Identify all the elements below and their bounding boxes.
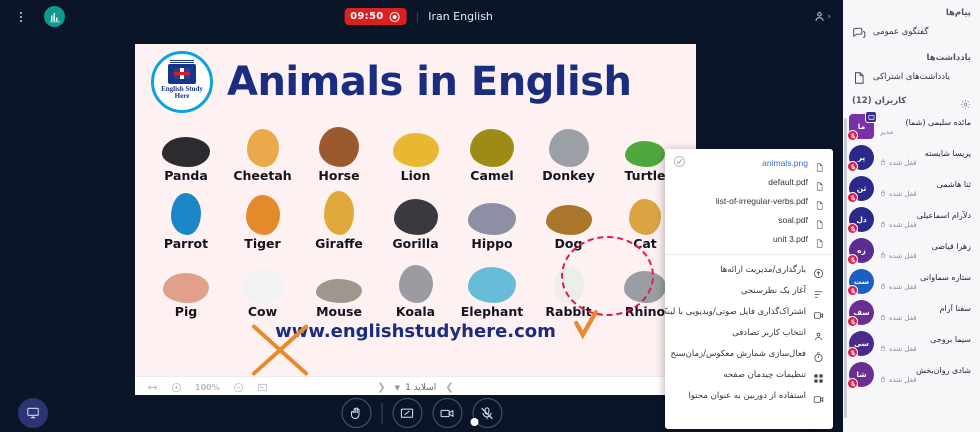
user-name: شادی روان‌بخش [880,366,971,375]
meeting-app-window: 09:50 | Iran English › English Study [0,0,980,432]
user-status-label: قفل شده [889,345,917,353]
animal-cell-giraffe: Giraffe [302,185,376,251]
users-section-header: کاربران (12) [843,90,980,109]
animal-row: PigCowMouseKoalaElephantRabbitRhino [145,253,686,319]
fullscreen-icon[interactable] [257,382,268,393]
animal-row: PandaCheetahHorseLionCamelDonkeyTurtle [145,117,686,183]
animal-image-cow [233,253,293,303]
popup-file-name: unit 3.pdf [674,234,808,244]
mic-off-icon [480,406,495,421]
popup-action-item[interactable]: انتخاب کاربر تصادفی [665,322,833,343]
animal-label: Gorilla [392,236,438,251]
random-user-icon [813,327,824,338]
popup-divider [665,254,833,255]
animal-label: Rabbit [545,304,591,319]
animal-label: Dog [555,236,583,251]
animal-image-mouse [309,253,369,303]
user-list-item[interactable]: ثنا هاشمیقفل شدهثن [843,173,980,204]
user-status-label: قفل شده [889,190,917,198]
user-name: ستاره سماوانی [880,273,971,282]
slide-zoom-controls: 100% [135,382,268,393]
animal-cell-donkey: Donkey [532,117,606,183]
popup-file-item[interactable]: default.pdf [665,172,833,191]
animal-cell-parrot: Parrot [149,185,223,251]
lock-icon [880,190,886,198]
popup-file-list: animals.pngdefault.pdflist-of-irregular-… [665,149,833,251]
animal-image-cheetah [233,117,293,167]
app-logo-icon[interactable] [44,6,65,27]
user-status-label: قفل شده [889,283,917,291]
user-status: مدیر [880,128,971,136]
animal-label: Horse [318,168,359,183]
avatar-wrap: پر [849,145,874,170]
mic-off-badge-icon [847,285,858,296]
animal-image-tiger [233,185,293,235]
file-icon [815,214,824,225]
animal-label: Rhino [625,304,665,319]
popup-file-name: animals.png [674,158,808,168]
record-dot-icon [389,12,399,22]
file-icon [815,233,824,244]
gear-icon[interactable] [960,95,971,106]
lock-icon [880,345,886,353]
animal-image-lion [386,117,446,167]
user-name: پریسا شایسته [880,149,971,158]
animal-image-donkey [539,117,599,167]
animal-label: Donkey [542,168,594,183]
animal-label: Cheetah [233,168,291,183]
presentation-options-popup: animals.pngdefault.pdflist-of-irregular-… [665,149,833,429]
animal-image-parrot [156,185,216,235]
popup-action-item[interactable]: آغاز یک نظرسنجی [665,280,833,301]
lock-icon [880,221,886,229]
video-link-icon [813,306,824,317]
user-list-item[interactable]: شادی روان‌بخشقفل شدهشا [843,359,980,390]
animal-cell-tiger: Tiger [226,185,300,251]
animal-cell-camel: Camel [455,117,529,183]
user-meta: ثنا هاشمیقفل شده [880,180,971,198]
user-name: ثنا هاشمی [880,180,971,189]
camera-button[interactable] [432,398,462,428]
animal-label: Tiger [244,236,280,251]
notes-section-title: یادداشت‌ها [843,45,980,67]
animal-label: Pig [175,304,197,319]
recording-status-group: 09:50 | Iran English [344,8,493,25]
user-status-label: قفل شده [889,376,917,384]
animal-label: Camel [470,168,513,183]
check-circle-icon [674,156,685,167]
popup-action-label: آغاز یک نظرسنجی [741,286,806,296]
user-list-item[interactable]: پریسا شایستهقفل شدهپر [843,142,980,173]
user-list-item[interactable]: سفنا آرامقفل شدهسف [843,297,980,328]
sidebar-item-public-chat[interactable]: گفتگوی عمومی [843,22,980,45]
user-meta: سفنا آرامقفل شده [880,304,971,322]
user-status: قفل شده [880,190,971,198]
fit-to-width-icon[interactable] [147,382,158,393]
next-slide-button[interactable]: ❮ [377,382,385,393]
poll-icon [813,285,824,296]
zoom-level-value: 100% [195,383,220,392]
user-name: سفنا آرام [880,304,971,313]
recording-timer-button[interactable]: 09:50 [344,8,406,25]
camera-content-icon [813,390,824,401]
user-status: قفل شده [880,345,971,353]
animal-cell-elephant: Elephant [455,253,529,319]
timer-icon [813,348,824,359]
top-bar: 09:50 | Iran English › [0,0,843,33]
presenter-badge-icon [865,111,877,123]
badge-line2: Here [175,92,190,100]
animal-image-camel [462,117,522,167]
participants-icon [813,10,826,23]
animal-cell-pig: Pig [149,253,223,319]
animal-label: Mouse [316,304,362,319]
animal-label: Hippo [471,236,512,251]
user-status-label: قفل شده [889,221,917,229]
public-chat-label: گفتگوی عمومی [873,27,928,37]
popup-action-item[interactable]: استفاده از دوربین به عنوان محتوا [665,385,833,406]
user-status: قفل شده [880,252,971,260]
slide-canvas[interactable]: English Study Here Animals in English Pa… [135,44,696,376]
animal-cell-cow: Cow [226,253,300,319]
messages-section-title: پیام‌ها [843,0,980,22]
mic-off-badge-icon [847,316,858,327]
popup-action-label: فعال‌سازی شمارش معکوس/زمان‌سنج [670,349,806,359]
user-list-item[interactable]: ستاره سماوانیقفل شدهست [843,266,980,297]
animal-image-hippo [462,185,522,235]
users-count-title: کاربران (12) [852,96,906,106]
zoom-out-icon[interactable] [233,382,244,393]
animal-cell-hippo: Hippo [455,185,529,251]
animal-image-rabbit [539,253,599,303]
file-icon [815,157,824,168]
animal-grid: PandaCheetahHorseLionCamelDonkeyTurtlePa… [135,113,696,319]
popup-action-item[interactable]: فعال‌سازی شمارش معکوس/زمان‌سنج [665,343,833,364]
popup-action-item[interactable]: بارگذاری/مدیریت ارائه‌ها [665,259,833,280]
user-meta: ستاره سماوانیقفل شده [880,273,971,291]
popup-action-list: بارگذاری/مدیریت ارائه‌هاآغاز یک نظرسنجیا… [665,258,833,410]
sidebar-scrollbar[interactable] [844,118,847,418]
animal-cell-horse: Horse [302,117,376,183]
user-name: دلآرام اسماعیلی [880,211,971,220]
file-icon [815,176,824,187]
avatar-wrap: ست [849,269,874,294]
avatar-wrap: سی [849,331,874,356]
animal-cell-lion: Lion [379,117,453,183]
recording-time: 09:50 [350,11,383,22]
slide-navigation: ❯ اسلاید 1 ▼ ❮ [377,382,453,393]
raise-hand-icon [349,406,364,421]
mic-off-badge-icon [847,347,858,358]
mic-off-badge-icon [847,130,858,141]
animal-cell-rabbit: Rabbit [532,253,606,319]
english-study-here-logo-icon: English Study Here [151,51,213,113]
user-status: قفل شده [880,221,971,229]
animal-cell-mouse: Mouse [302,253,376,319]
layout-icon [813,369,824,380]
animal-label: Lion [401,168,431,183]
popup-action-item[interactable]: تنظیمات چیدمان صفحه [665,364,833,385]
user-status: قفل شده [880,376,971,384]
lock-icon [880,376,886,384]
presentation-icon [26,406,40,420]
user-status-label: مدیر [880,128,893,136]
chevron-right-icon: › [827,12,831,22]
user-meta: شادی روان‌بخشقفل شده [880,366,971,384]
animal-cell-cheetah: Cheetah [226,117,300,183]
room-title: Iran English [428,10,493,23]
popup-action-label: تنظیمات چیدمان صفحه [723,370,806,380]
avatar-wrap: دل [849,207,874,232]
zoom-in-icon[interactable] [171,382,182,393]
slide-selector-dropdown[interactable]: اسلاید 1 ▼ [395,383,437,393]
slide-website-url: www.englishstudyhere.com [135,321,696,342]
popup-file-item[interactable]: soal.pdf [665,210,833,229]
popup-file-item[interactable]: animals.png [665,153,833,172]
animal-label: Koala [396,304,435,319]
animal-image-pig [156,253,216,303]
avatar-wrap: زه [849,238,874,263]
shared-notes-label: یادداشت‌های اشتراکی [873,72,950,82]
popup-action-label: انتخاب کاربر تصادفی [732,328,806,338]
avatar-wrap: شا [849,362,874,387]
mic-status-dot [470,418,478,426]
user-list[interactable]: مائده سلیمی (شما)مدیرماپریسا شایستهقفل ش… [843,109,980,432]
lock-icon [880,283,886,291]
user-list-item[interactable]: زهرا قیاضیقفل شدهزه [843,235,980,266]
user-name: سیما بروجی [880,335,971,344]
chevron-down-icon: ▼ [395,384,400,392]
mic-off-badge-icon [847,192,858,203]
slide-header: English Study Here Animals in English [135,44,696,113]
lock-icon [880,159,886,167]
raise-hand-button[interactable] [341,398,371,428]
avatar-wrap: ثن [849,176,874,201]
animal-image-giraffe [309,185,369,235]
user-list-item[interactable]: سیما بروجیقفل شدهسی [843,328,980,359]
user-meta: دلآرام اسماعیلیقفل شده [880,211,971,229]
animal-cell-gorilla: Gorilla [379,185,453,251]
animal-image-elephant [462,253,522,303]
animal-image-dog [539,185,599,235]
topbar-separator: | [415,10,419,23]
file-icon [815,195,824,206]
animal-image-gorilla [386,185,446,235]
user-meta: پریسا شایستهقفل شده [880,149,971,167]
animal-label: Panda [164,168,208,183]
user-status-label: قفل شده [889,252,917,260]
user-status: قفل شده [880,314,971,322]
camera-off-icon [440,406,455,421]
popup-file-item[interactable]: list-of-irregular-verbs.pdf [665,191,833,210]
mic-off-badge-icon [847,223,858,234]
lock-icon [880,314,886,322]
mic-off-badge-icon [847,161,858,172]
animal-image-horse [309,117,369,167]
user-list-item[interactable]: مائده سلیمی (شما)مدیرما [843,111,980,142]
user-status-label: قفل شده [889,159,917,167]
slide-title: Animals in English [227,62,632,102]
user-meta: سیما بروجیقفل شده [880,335,971,353]
animal-cell-dog: Dog [532,185,606,251]
screen-share-button[interactable] [392,398,422,428]
animal-label: Giraffe [315,236,363,251]
sidebar-item-shared-notes[interactable]: یادداشت‌های اشتراکی [843,67,980,90]
popup-file-name: default.pdf [674,177,808,187]
note-icon [852,70,866,84]
user-meta: زهرا قیاضیقفل شده [880,242,971,260]
popup-file-name: list-of-irregular-verbs.pdf [674,196,808,206]
microphone-button[interactable] [472,398,502,428]
controls-divider [381,403,382,424]
user-name: مائده سلیمی (شما) [880,118,971,127]
popup-action-label: اشتراک‌گذاری فایل صوتی/ویدیویی با لینک [665,307,806,317]
animal-row: ParrotTigerGiraffeGorillaHippoDogCat [145,185,686,251]
presentation-toggle-button[interactable] [18,398,48,428]
popup-action-item[interactable]: اشتراک‌گذاری فایل صوتی/ویدیویی با لینک [665,301,833,322]
user-status: قفل شده [880,159,971,167]
popup-action-label: بارگذاری/مدیریت ارائه‌ها [720,265,806,275]
animal-cell-koala: Koala [379,253,453,319]
mic-off-badge-icon [847,378,858,389]
animal-image-koala [386,253,446,303]
right-sidebar: پیام‌ها گفتگوی عمومی یادداشت‌ها یادداشت‌… [843,0,980,432]
screen-share-icon [400,406,415,421]
user-name: زهرا قیاضی [880,242,971,251]
presentation-panel: English Study Here Animals in English Pa… [135,44,696,398]
kebab-menu-icon[interactable] [10,6,32,28]
popup-action-label: استفاده از دوربین به عنوان محتوا [689,391,806,401]
animal-label: Parrot [164,236,208,251]
lock-icon [880,252,886,260]
upload-icon [813,264,824,275]
main-stage: English Study Here Animals in English Pa… [0,33,843,395]
chat-bubble-icon [852,25,866,39]
user-status: قفل شده [880,283,971,291]
animal-label: Cat [633,236,657,251]
avatar-wrap: سف [849,300,874,325]
animal-cell-panda: Panda [149,117,223,183]
animal-label: Turtle [625,168,666,183]
popup-file-name: soal.pdf [674,215,808,225]
meeting-controls [341,398,502,428]
animal-label: Cow [248,304,277,319]
animal-image-panda [156,117,216,167]
slide-number-label: اسلاید 1 [405,383,436,393]
participants-toggle[interactable]: › [813,10,831,23]
user-meta: مائده سلیمی (شما)مدیر [880,118,971,136]
animal-label: Elephant [461,304,523,319]
user-list-item[interactable]: دلآرام اسماعیلیقفل شدهدل [843,204,980,235]
popup-file-item[interactable]: unit 3.pdf [665,229,833,248]
avatar-wrap: ما [849,114,874,139]
user-status-label: قفل شده [889,314,917,322]
prev-slide-button[interactable]: ❯ [445,382,453,393]
mic-off-badge-icon [847,254,858,265]
